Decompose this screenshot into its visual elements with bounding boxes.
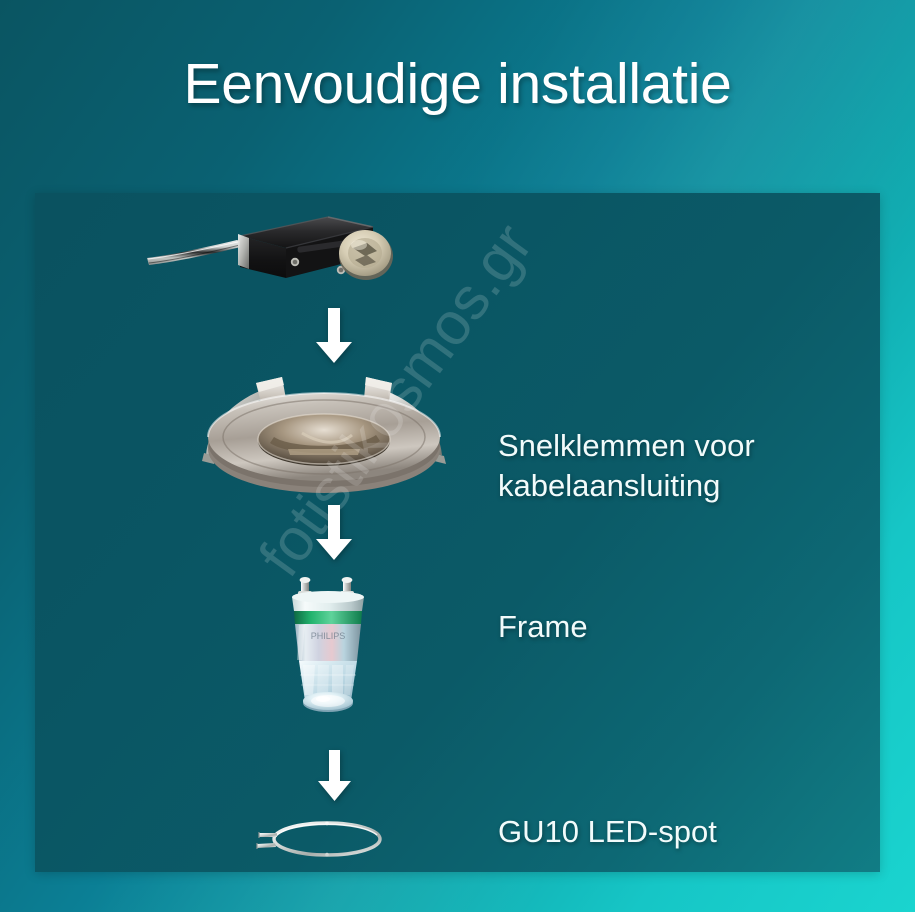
brand-band (294, 611, 362, 624)
lamp-body (295, 624, 361, 661)
arrow-down-icon (311, 505, 357, 561)
metal-spring-ring-image (255, 811, 395, 867)
installation-infographic: Eenvoudige installatie (0, 0, 915, 912)
downlight-frame-svg (190, 363, 460, 503)
cable-clamp (238, 234, 249, 269)
page-title: Eenvoudige installatie (184, 56, 732, 113)
arrow-down-1 (311, 308, 357, 364)
ring-body (274, 823, 380, 855)
arrow-down-icon (311, 308, 357, 364)
lens-facets (300, 665, 356, 695)
arrow-down-3 (315, 750, 355, 802)
gu10-led-lamp-image: PHILIPS (265, 575, 397, 725)
metal-ring-svg (255, 811, 395, 867)
ring-tail-upper (259, 833, 277, 837)
step-label-frame: Frame (498, 607, 588, 647)
brand-text: PHILIPS (311, 631, 346, 641)
ring-tail-lower (257, 843, 276, 848)
arrow-down-2 (311, 505, 357, 561)
quick-connector-terminal-image (145, 212, 375, 297)
page-title-container: Eenvoudige installatie (0, 56, 915, 113)
diagram-panel: PHILIPS (35, 193, 880, 872)
step-label-gu10-led-spot: GU10 LED-spot (498, 812, 717, 852)
step-label-snelklemmen: Snelklemmen voor kabelaansluiting (498, 426, 755, 507)
arrow-down-icon (315, 750, 355, 802)
downlight-frame-image (190, 363, 452, 495)
quick-connector-svg (145, 212, 385, 302)
gu10-lamp-svg: PHILIPS (265, 575, 397, 727)
